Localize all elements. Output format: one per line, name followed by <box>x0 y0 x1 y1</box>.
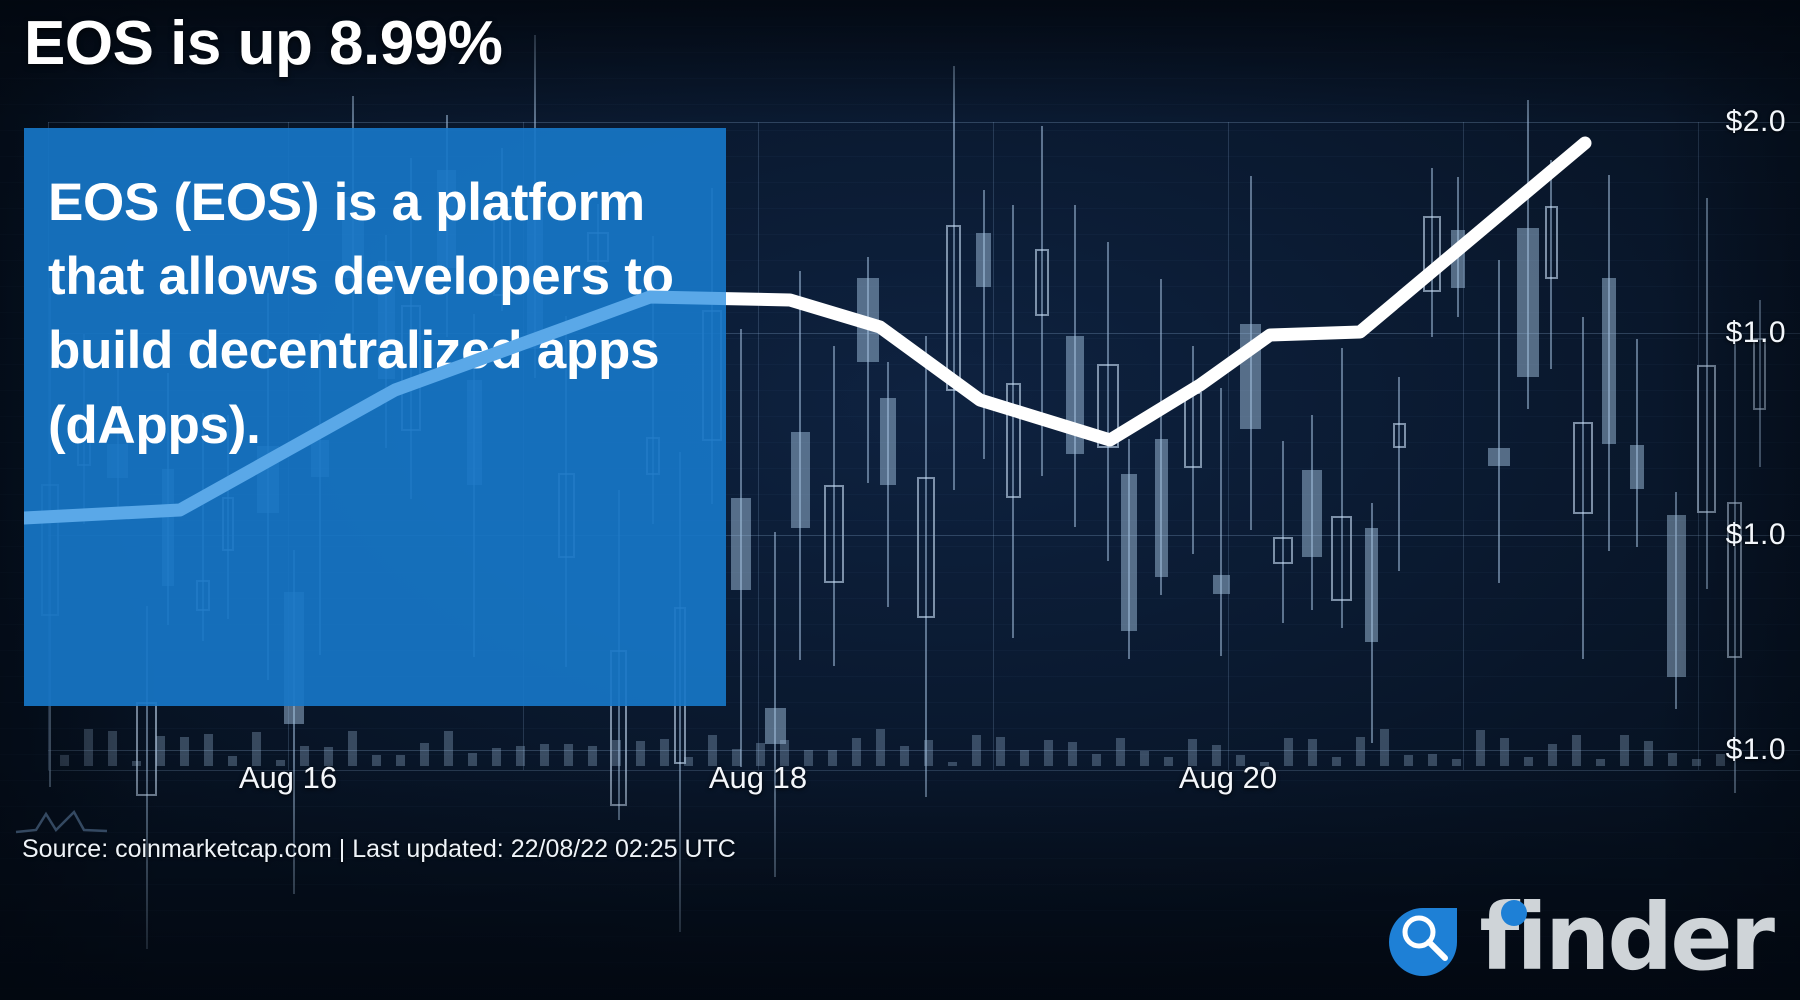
x-axis-tick-0: Aug 16 <box>239 760 337 796</box>
chart-card: $2.0$1.0$1.0$1.0 Aug 16Aug 18Aug 20 EOS … <box>0 0 1800 1000</box>
sparkline-icon <box>14 800 109 840</box>
page-title: EOS is up 8.99% <box>24 8 502 79</box>
finder-logo[interactable]: finder <box>1381 894 1772 982</box>
x-axis-tick-2: Aug 20 <box>1179 760 1277 796</box>
droplet-magnifier-icon <box>1381 894 1469 982</box>
x-axis-tick-1: Aug 18 <box>709 760 807 796</box>
source-attribution: Source: coinmarketcap.com | Last updated… <box>22 835 736 864</box>
